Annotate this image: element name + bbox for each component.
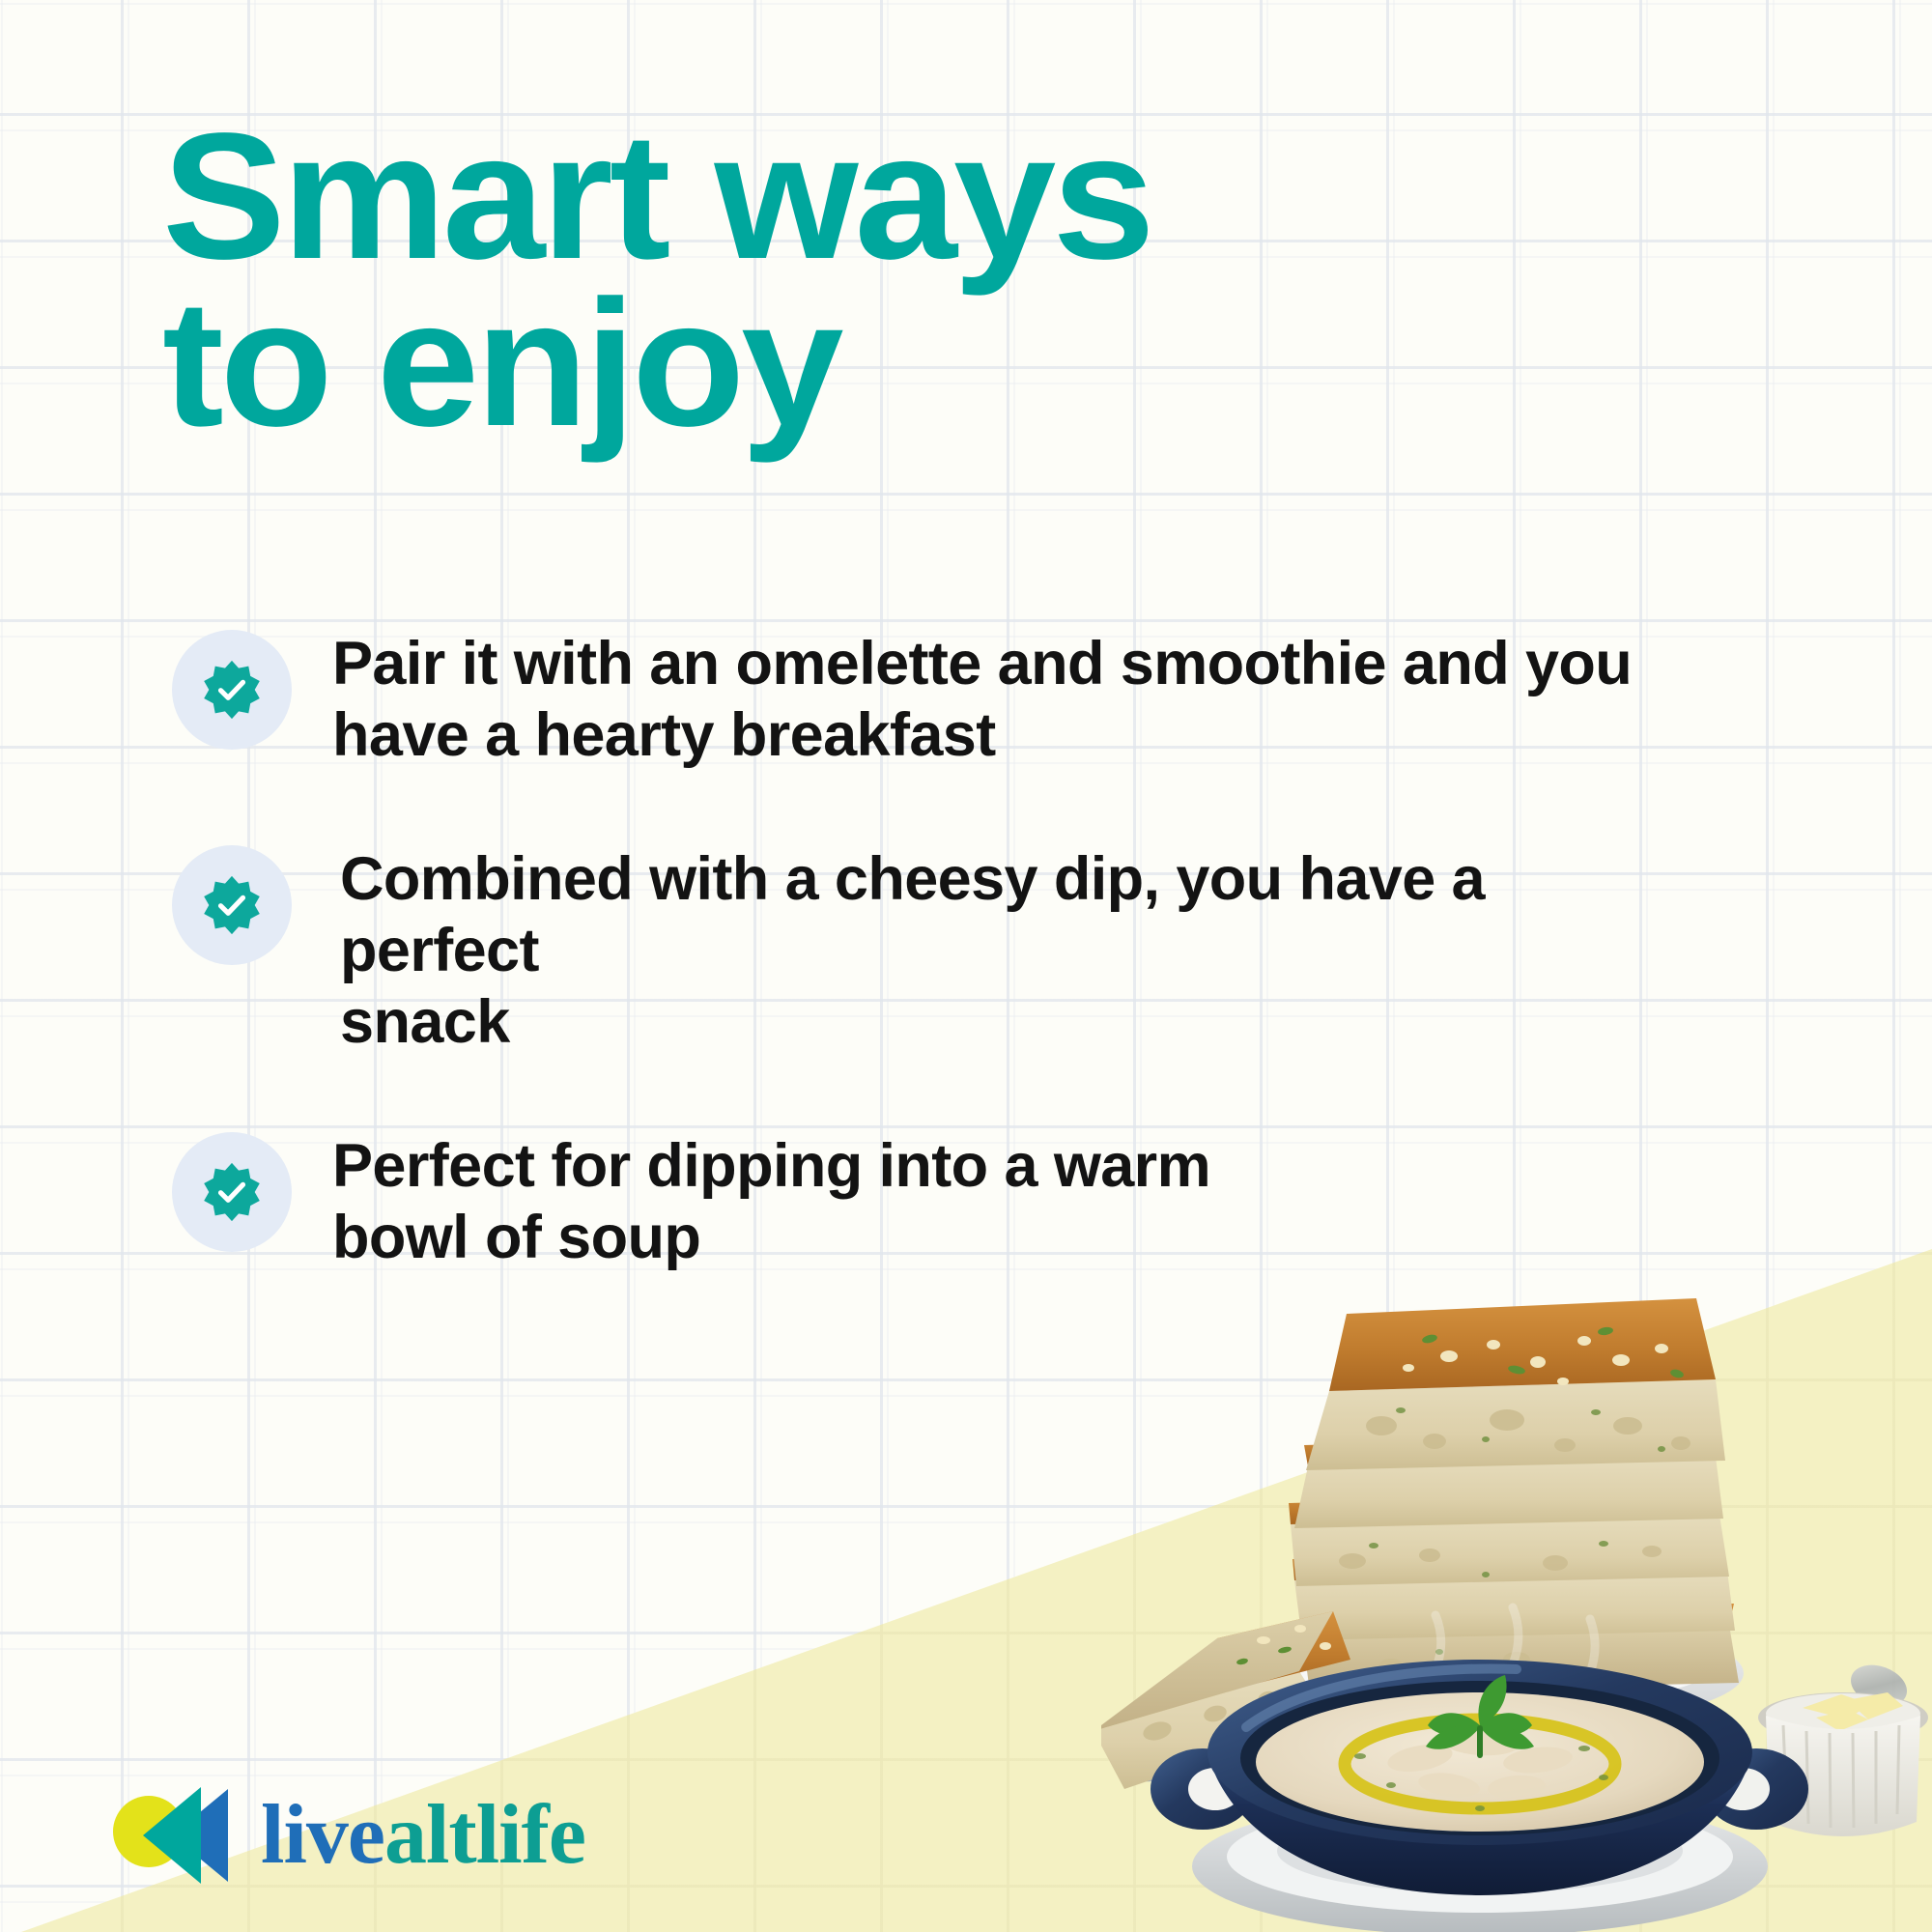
list-item-label: Pair it with an omelette and smoothie an… <box>332 628 1679 772</box>
list-item: Pair it with an omelette and smoothie an… <box>172 626 1679 772</box>
brand-wordmark: livealtlife <box>261 1793 585 1878</box>
verified-check-badge-icon <box>172 630 292 750</box>
stacked-garlic-bread-slices <box>1289 1298 1739 1692</box>
poster-canvas: Smart ways to enjoy Pair it with an omel… <box>0 0 1932 1932</box>
list-item-label: Perfect for dipping into a warm bowl of … <box>332 1130 1679 1274</box>
brand-word-live: live <box>261 1788 384 1882</box>
list-item-label: Combined with a cheesy dip, you have a p… <box>340 843 1679 1059</box>
livealtlife-double-chevron-mark <box>112 1785 240 1886</box>
benefits-list: Pair it with an omelette and smoothie an… <box>172 626 1679 1343</box>
verified-check-badge-icon <box>172 1132 292 1252</box>
brand-logo[interactable]: livealtlife <box>112 1785 585 1886</box>
brand-word-altlife: altlife <box>384 1788 585 1882</box>
list-item: Combined with a cheesy dip, you have a p… <box>172 841 1679 1059</box>
page-title: Smart ways to enjoy <box>162 114 1456 448</box>
verified-check-badge-icon <box>172 845 292 965</box>
list-item: Perfect for dipping into a warm bowl of … <box>172 1128 1679 1274</box>
garlic-bread-stack-with-creamy-soup-photo <box>1101 1256 1932 1932</box>
